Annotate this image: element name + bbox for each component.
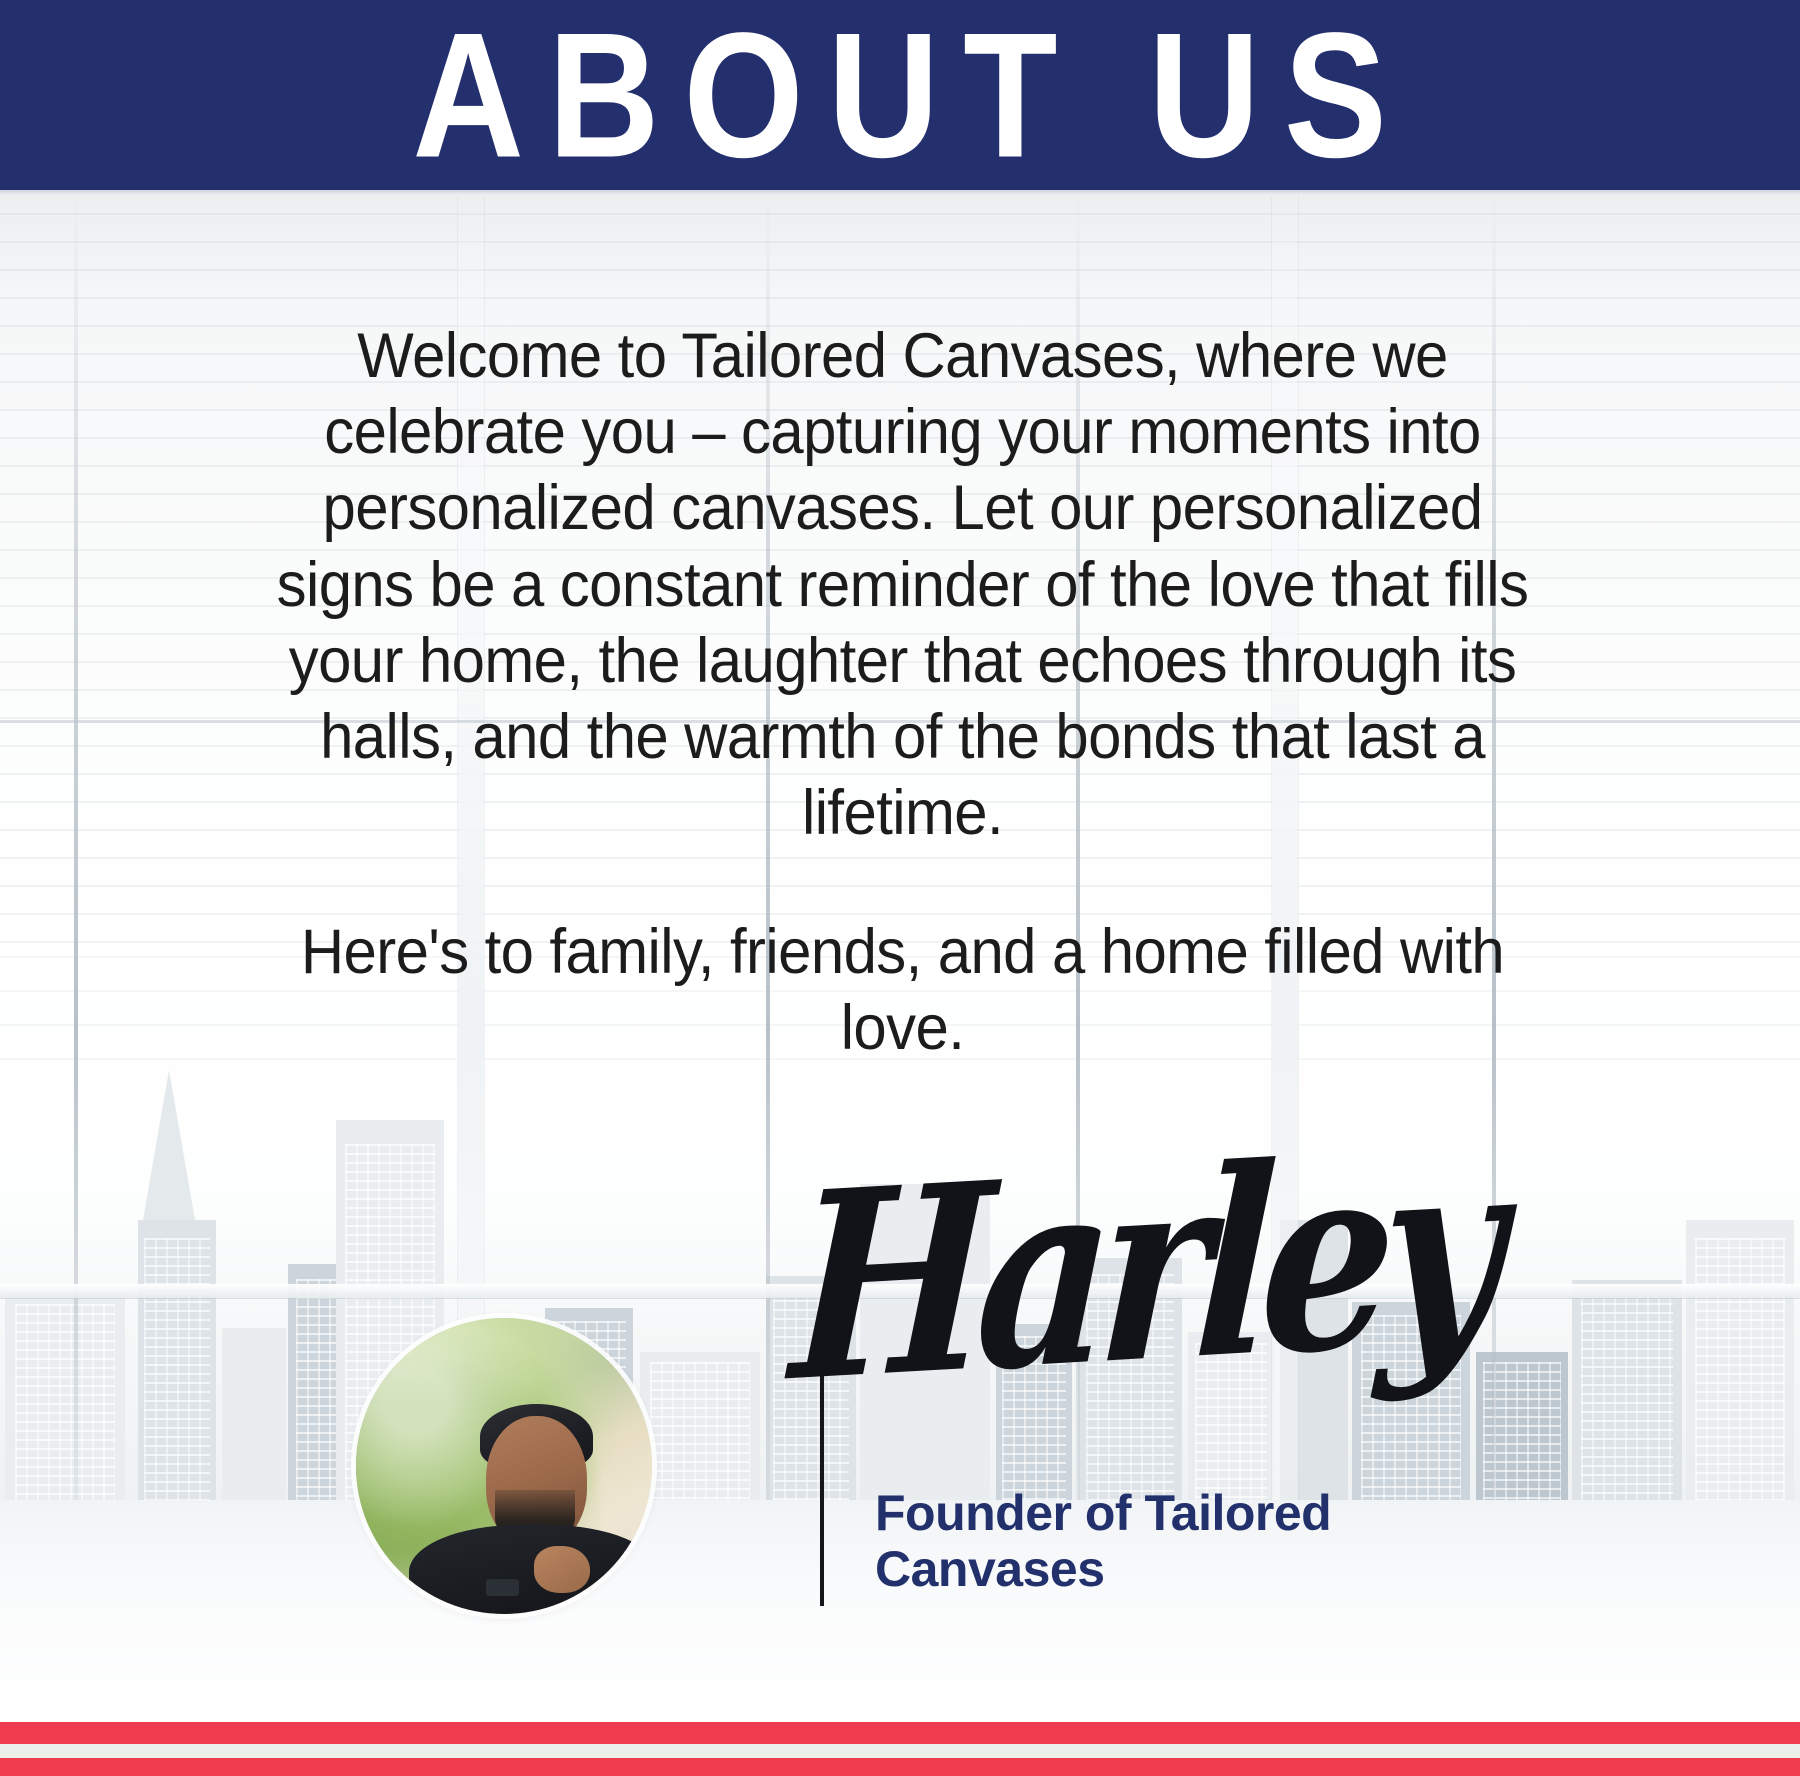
building	[5, 1290, 125, 1520]
building	[1280, 1220, 1348, 1520]
transamerica-pyramid-icon	[143, 1070, 195, 1220]
about-us-copy: Welcome to Tailored Canvases, where we c…	[249, 318, 1555, 1066]
building	[1476, 1352, 1568, 1520]
header-banner: ABOUT US	[0, 0, 1800, 190]
building	[860, 1184, 990, 1520]
building	[1078, 1258, 1182, 1520]
building	[222, 1328, 286, 1520]
paragraph-spacer	[249, 852, 1555, 914]
signature-divider	[820, 1330, 824, 1606]
founder-title: Founder of Tailored Canvases	[875, 1485, 1435, 1597]
building	[1572, 1280, 1682, 1520]
accent-bar-bottom	[0, 1758, 1800, 1776]
window-mullion	[74, 190, 78, 1590]
building	[640, 1352, 760, 1520]
building	[1686, 1220, 1794, 1520]
avatar-photo	[356, 1318, 652, 1614]
avatar	[356, 1318, 652, 1614]
avatar-watch	[486, 1579, 519, 1597]
page-title: ABOUT US	[389, 6, 1411, 184]
signature-harley: Harley	[782, 1127, 1399, 1528]
about-us-page: ABOUT US Welcome to Tailored Canvases, w…	[0, 0, 1800, 1776]
building	[138, 1220, 216, 1520]
paragraph-welcome: Welcome to Tailored Canvases, where we c…	[249, 318, 1555, 852]
paragraph-toast: Here's to family, friends, and a home fi…	[249, 914, 1555, 1066]
banner-edge-shadow	[0, 190, 1800, 196]
window-rail	[0, 1284, 1800, 1298]
accent-bar-top	[0, 1722, 1800, 1744]
building	[766, 1276, 856, 1520]
avatar-torso	[409, 1525, 652, 1614]
accent-bar-gap	[0, 1744, 1800, 1758]
avatar-hand	[534, 1546, 590, 1593]
